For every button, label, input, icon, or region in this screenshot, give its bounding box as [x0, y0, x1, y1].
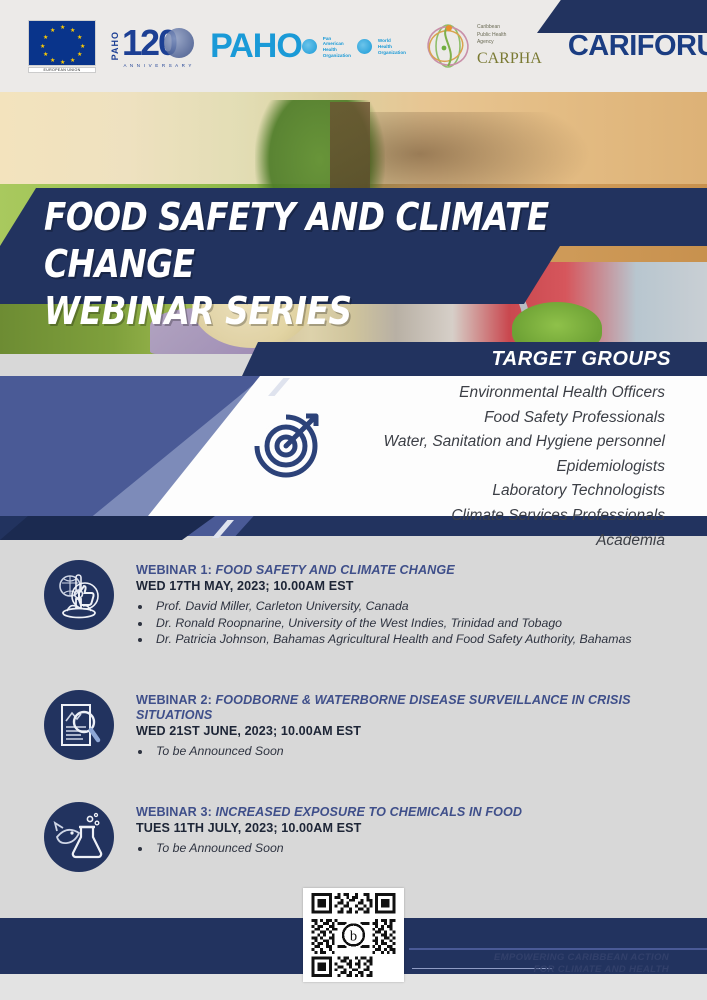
webinar-speaker: To be Announced Soon	[152, 743, 677, 760]
webinar-item-1: WEBINAR 1: FOOD SAFETY AND CLIMATE CHANG…	[0, 552, 707, 648]
target-groups-list: Environmental Health Officers Food Safet…	[384, 381, 665, 553]
logo-carpha: Caribbean Public Health Agency CARPHA	[422, 22, 542, 70]
webinar-speaker: Dr. Ronald Roopnarine, University of the…	[152, 615, 677, 632]
webinar-title: WEBINAR 1: FOOD SAFETY AND CLIMATE CHANG…	[136, 563, 677, 578]
webinar-topic: INCREASED EXPOSURE TO CHEMICALS IN FOOD	[215, 805, 522, 819]
pan-american-health-globe-icon	[302, 39, 317, 54]
qr-code[interactable]: b	[303, 888, 404, 982]
target-group-item: Water, Sanitation and Hygiene personnel	[384, 430, 665, 455]
webinar-item-3: WEBINAR 3: INCREASED EXPOSURE TO CHEMICA…	[0, 760, 707, 872]
target-group-item: Food Safety Professionals	[384, 406, 665, 431]
fish-flask-icon	[44, 802, 114, 872]
footer-tagline: EMPOWERING CARIBBEAN ACTION FOR CLIMATE …	[494, 952, 669, 975]
top-right-navy-accent	[537, 0, 707, 33]
logo-paho: PAHO Pan American Health Organization Wo…	[210, 30, 406, 62]
target-group-item: Academia	[384, 529, 665, 554]
webinar-title: WEBINAR 3: INCREASED EXPOSURE TO CHEMICA…	[136, 805, 677, 820]
target-group-item: Epidemiologists	[384, 455, 665, 480]
carpha-description: Caribbean Public Health Agency	[477, 24, 542, 47]
logo-european-union: ★ ★ ★ ★ ★ ★ ★ ★ ★ ★ ★ ★ EUROPEAN UNION	[28, 20, 96, 73]
webinar-title: WEBINAR 2: FOODBORNE & WATERBORNE DISEAS…	[136, 693, 677, 723]
logo-cariforum: CARIFORUM	[568, 30, 707, 63]
carpha-wordmark: CARPHA	[477, 50, 542, 68]
carpha-symbol-icon	[422, 22, 474, 70]
webinar-label: WEBINAR 3:	[136, 805, 212, 819]
eu-flag-icon: ★ ★ ★ ★ ★ ★ ★ ★ ★ ★ ★ ★	[28, 20, 96, 66]
webinar-speaker-list: To be Announced Soon	[152, 840, 677, 857]
paho120-globe-icon	[164, 28, 194, 58]
webinar-speaker: To be Announced Soon	[152, 840, 677, 857]
webinar-speaker: Dr. Patricia Johnson, Bahamas Agricultur…	[152, 631, 677, 648]
webinar-label: WEBINAR 2:	[136, 693, 212, 707]
webinar-speaker-list: Prof. David Miller, Carleton University,…	[152, 598, 677, 648]
target-group-item: Environmental Health Officers	[384, 381, 665, 406]
logo-paho-120: PAHO 120 A N N I V E R S A R Y	[110, 25, 194, 68]
document-magnifier-icon	[44, 690, 114, 760]
target-group-item: Laboratory Technologists	[384, 479, 665, 504]
webinar-date: WED 17TH MAY, 2023; 10.00AM EST	[136, 578, 677, 594]
webinar-speaker: Prof. David Miller, Carleton University,…	[152, 598, 677, 615]
paho120-vertical-text: PAHO	[110, 31, 120, 60]
target-bullseye-arrow-icon	[248, 404, 328, 489]
page-title: FOOD SAFETY AND CLIMATE CHANGE WEBINAR S…	[44, 194, 614, 335]
target-groups-heading: TARGET GROUPS	[492, 348, 671, 371]
world-health-organization-icon	[357, 39, 372, 54]
webinar-list: WEBINAR 1: FOOD SAFETY AND CLIMATE CHANG…	[0, 552, 707, 872]
eu-caption: EUROPEAN UNION	[28, 67, 96, 73]
webinar-item-2: WEBINAR 2: FOODBORNE & WATERBORNE DISEAS…	[0, 648, 707, 760]
footer-rule-top	[409, 948, 707, 950]
target-group-item: Climate Services Professionals	[384, 504, 665, 529]
webinar-speaker-list: To be Announced Soon	[152, 743, 677, 760]
paho-sub-right: World Health Organization	[378, 38, 406, 55]
poster-root: ★ ★ ★ ★ ★ ★ ★ ★ ★ ★ ★ ★ EUROPEAN UNION P…	[0, 0, 707, 1000]
webinar-label: WEBINAR 1:	[136, 563, 212, 577]
globe-thermometer-thumbsup-plate-icon	[44, 560, 114, 630]
paho-sub-left: Pan American Health Organization	[323, 36, 351, 59]
paho120-anniversary-text: A N N I V E R S A R Y	[122, 63, 194, 68]
svg-text:b: b	[350, 929, 357, 945]
webinar-date: TUES 11TH JULY, 2023; 10.00AM EST	[136, 820, 677, 836]
paho-wordmark: PAHO	[210, 30, 302, 62]
webinar-topic: FOOD SAFETY AND CLIMATE CHANGE	[215, 563, 454, 577]
webinar-date: WED 21ST JUNE, 2023; 10.00AM EST	[136, 723, 677, 739]
